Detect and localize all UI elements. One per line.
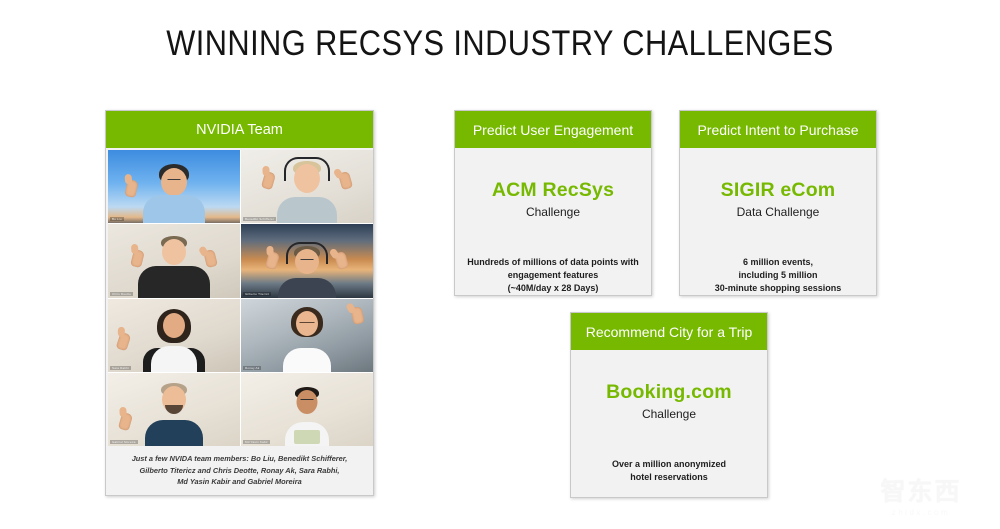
card-subtitle: Data Challenge — [737, 205, 820, 219]
card-body-engagement: ACM RecSys Challenge Hundreds of million… — [455, 148, 651, 295]
tile-nameplate: Benedikt Schifferer — [243, 217, 276, 221]
card-detail-line-1: Hundreds of millions of data points with — [463, 256, 643, 269]
nvidia-team-header: NVIDIA Team — [106, 111, 373, 148]
card-detail-line-2: hotel reservations — [579, 471, 759, 484]
video-tile-gabriel-moreira: Gabriel Moreira — [108, 373, 240, 446]
card-detail-line-3: (~40M/day x 28 Days) — [463, 282, 643, 295]
card-brand-name: Booking.com — [606, 381, 732, 404]
tile-nameplate: Bo Liu — [110, 217, 124, 221]
card-detail-line-1: 6 million events, — [688, 256, 868, 269]
card-brand-name: SIGIR eCom — [721, 179, 836, 202]
card-header-label: Predict Intent to Purchase — [697, 122, 858, 138]
card-detail-line-2: engagement features — [463, 269, 643, 282]
tile-nameplate: Sara Rabhi — [110, 366, 131, 370]
page-title: WINNING RECSYS INDUSTRY CHALLENGES — [60, 24, 940, 64]
team-caption-line-1: Just a few NVIDA team members: Bo Liu, B… — [132, 453, 348, 464]
card-header-label: Predict User Engagement — [473, 122, 633, 138]
card-subtitle: Challenge — [526, 205, 580, 219]
slide-root: WINNING RECSYS INDUSTRY CHALLENGES NVIDI… — [0, 0, 1000, 529]
tile-nameplate: Gabriel Moreira — [110, 440, 138, 444]
tile-nameplate: Md Yasin Kabir — [243, 440, 270, 444]
team-caption-line-3: Md Yasin Kabir and Gabriel Moreira — [132, 476, 348, 487]
challenge-card-trip: Recommend City for a Trip Booking.com Ch… — [570, 312, 768, 498]
team-photo-grid: Bo Liu Benedikt Schifferer — [108, 150, 373, 446]
card-header-purchase: Predict Intent to Purchase — [680, 111, 876, 148]
watermark-en-text: zhidx.com — [892, 508, 951, 517]
team-caption-line-2: Gilberto Titericz and Chris Deotte, Rona… — [132, 465, 348, 476]
video-tile-ronay-ak: Ronay Ak — [241, 299, 373, 372]
card-header-engagement: Predict User Engagement — [455, 111, 651, 148]
card-detail: 6 million events, including 5 million 30… — [688, 256, 868, 295]
card-body-trip: Booking.com Challenge Over a million ano… — [571, 350, 767, 497]
challenge-card-purchase: Predict Intent to Purchase SIGIR eCom Da… — [679, 110, 877, 296]
card-detail: Over a million anonymized hotel reservat… — [579, 458, 759, 484]
card-body-purchase: SIGIR eCom Data Challenge 6 million even… — [680, 148, 876, 295]
card-header-label: Recommend City for a Trip — [586, 324, 753, 340]
nvidia-team-panel: NVIDIA Team Bo Liu — [105, 110, 374, 496]
tile-nameplate: Ronay Ak — [243, 366, 261, 370]
video-tile-chris-deotte: Chris Deotte — [108, 224, 240, 297]
watermark-cn-text: 智东西 — [880, 480, 961, 505]
card-detail: Hundreds of millions of data points with… — [463, 256, 643, 295]
video-tile-gilberto-titericz: Gilberto Titericz — [241, 224, 373, 297]
card-brand-name: ACM RecSys — [492, 179, 614, 202]
nvidia-team-header-label: NVIDIA Team — [196, 122, 283, 138]
video-tile-bo-liu: Bo Liu — [108, 150, 240, 223]
card-detail-line-3: 30-minute shopping sessions — [688, 282, 868, 295]
challenge-card-engagement: Predict User Engagement ACM RecSys Chall… — [454, 110, 652, 296]
card-detail-line-1: Over a million anonymized — [579, 458, 759, 471]
video-tile-sara-rabhi: Sara Rabhi — [108, 299, 240, 372]
tile-nameplate: Gilberto Titericz — [243, 292, 271, 296]
team-caption: Just a few NVIDA team members: Bo Liu, B… — [108, 448, 371, 493]
card-subtitle: Challenge — [642, 407, 696, 421]
tile-nameplate: Chris Deotte — [110, 292, 133, 296]
video-tile-md-yasin-kabir: Md Yasin Kabir — [241, 373, 373, 446]
card-detail-line-2: including 5 million — [688, 269, 868, 282]
watermark: 智东西 zhidx.com — [852, 475, 990, 521]
video-tile-benedikt-schifferer: Benedikt Schifferer — [241, 150, 373, 223]
card-header-trip: Recommend City for a Trip — [571, 313, 767, 350]
